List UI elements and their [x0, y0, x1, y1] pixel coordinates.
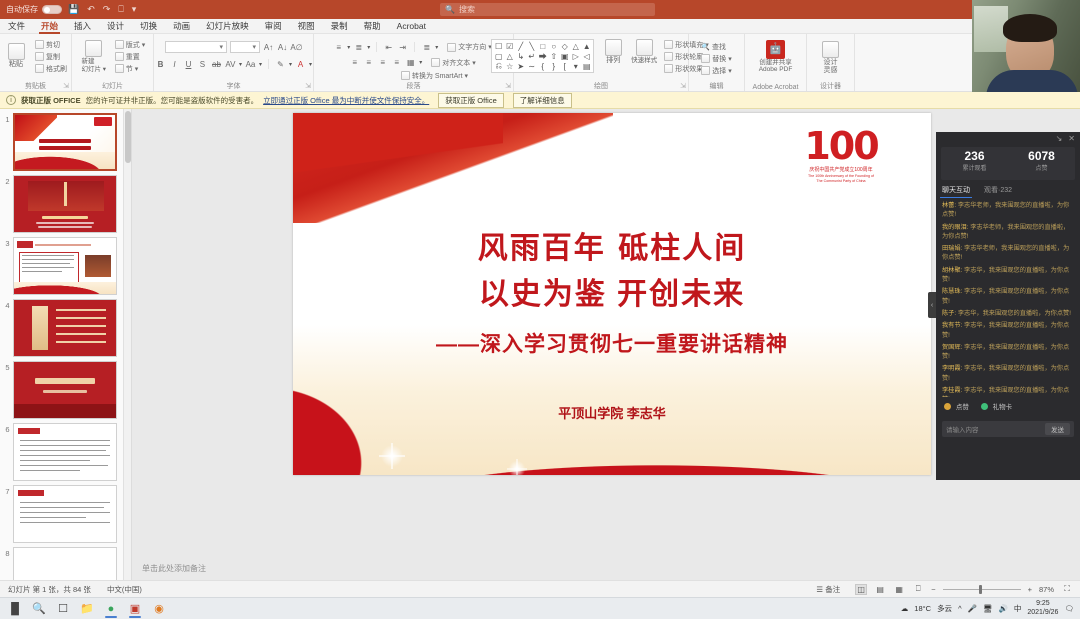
- tab-transitions[interactable]: 切换: [132, 19, 165, 34]
- views-value: 236: [941, 150, 1008, 163]
- cut-button[interactable]: 剪切: [33, 39, 69, 50]
- tab-review[interactable]: 审阅: [257, 19, 290, 34]
- fit-slide-button[interactable]: ⛶: [1061, 584, 1073, 595]
- chat-message: 陈子: 李志华，我来围观您的直播啦，为你点赞!: [942, 309, 1074, 318]
- status-bar-right: ☰ 备注 ◫ ▤ ▦ ⎕ − + 87% ⛶: [808, 584, 1080, 595]
- group-label-acrobat: Adobe Acrobat: [745, 84, 806, 91]
- line-spacing-button[interactable]: ≣: [421, 42, 432, 53]
- font-color-button[interactable]: A: [295, 59, 306, 70]
- tab-viewers[interactable]: 观看·232: [984, 185, 1012, 195]
- sparkle-icon: [507, 459, 527, 475]
- thumbnail-slide-4[interactable]: [13, 299, 117, 357]
- thumbnail-number: 1: [2, 113, 13, 124]
- status-bar: 幻灯片 第 1 张，共 84 张 中文(中国) ☰ 备注 ◫ ▤ ▦ ⎕ − +…: [0, 580, 1080, 597]
- chat-message: 林蕾: 李志华老师，我来围观您的直播啦，为你点赞!: [942, 201, 1074, 220]
- volume-icon[interactable]: 🔊: [998, 604, 1007, 613]
- chat-header: ↘ ✕: [936, 132, 1080, 146]
- presenter-body: [986, 70, 1078, 92]
- powerpoint-icon[interactable]: ▣: [124, 599, 146, 618]
- slide-count-label: 幻灯片 第 1 张，共 84 张: [0, 584, 99, 595]
- group-label-editing: 编辑: [689, 81, 744, 91]
- chat-tab-bar: 聊天互动 观看·232: [936, 180, 1080, 195]
- chat-input-placeholder: 请输入内容: [946, 424, 979, 434]
- smartart-icon: [401, 71, 410, 80]
- thumbnail-scrollbar[interactable]: [123, 109, 131, 580]
- tab-home[interactable]: 开始: [33, 19, 66, 34]
- increase-indent-button[interactable]: ⇥: [397, 42, 408, 53]
- mic-icon[interactable]: 🎤: [968, 604, 977, 613]
- chat-message: 田瑞娟: 李志华老师，我来围观您的直播啦，为你点赞!: [942, 244, 1074, 263]
- thumbnail-number: 8: [2, 547, 13, 558]
- strikethrough-button[interactable]: ab: [211, 59, 222, 70]
- paste-label: 粘贴: [9, 61, 23, 69]
- weather-desc: 多云: [937, 603, 952, 614]
- ime-icon[interactable]: 中: [1014, 603, 1022, 614]
- redo-icon[interactable]: ↷: [101, 4, 113, 15]
- weather-icon[interactable]: ☁: [901, 604, 909, 613]
- create-share-pdf-button[interactable]: 🤖 创建并共享 Adobe PDF: [748, 40, 804, 74]
- chat-message: 贺国辉: 李志华，我来围观您的直播啦，为你点赞!: [942, 343, 1074, 362]
- layout-icon: [115, 40, 124, 49]
- replace-icon: [701, 54, 710, 63]
- thumbnail-number: 5: [2, 361, 13, 372]
- align-center-button[interactable]: ≡: [363, 57, 374, 68]
- network-icon[interactable]: 🖥: [983, 604, 993, 613]
- thumbnail-item[interactable]: 3: [0, 233, 131, 295]
- search-placeholder: 搜索: [459, 4, 475, 15]
- slide-thumbnail-pane[interactable]: 1 2 3: [0, 109, 132, 580]
- search-icon: 🔍: [445, 5, 455, 14]
- chat-message: 陈慧珠: 李志华，我来围观您的直播啦，为你点赞!: [942, 287, 1074, 306]
- thumbnail-slide-1[interactable]: [13, 113, 117, 171]
- title-bar: 自动保存 💾 ↶ ↷ ⎕ ▾ 李效武 深入学习贯彻七一重要讲话精神9.3.ppt…: [0, 0, 1080, 19]
- underline-button[interactable]: U: [183, 59, 194, 70]
- paste-button[interactable]: 粘贴: [2, 43, 30, 69]
- start-icon[interactable]: █: [4, 599, 26, 618]
- present-icon[interactable]: ⎕: [116, 4, 125, 15]
- italic-button[interactable]: I: [169, 59, 180, 70]
- banner-message: 您的许可证并非正版。您可能是盗版软件的受害者。: [86, 95, 259, 106]
- replace-button[interactable]: 替换▾: [699, 53, 734, 64]
- slide-heading-line2[interactable]: 以史为鉴 开创未来: [293, 269, 931, 313]
- search-box[interactable]: 🔍 搜索: [440, 3, 655, 16]
- drawing-dialog-launcher[interactable]: ⇲: [680, 82, 686, 90]
- live-chat-panel[interactable]: ‹ ↘ ✕ 236 累计观看 6078 点赞 聊天互动 观看·232 林蕾: 李…: [936, 132, 1080, 480]
- clipboard-dialog-launcher[interactable]: ⇲: [63, 82, 69, 90]
- learn-more-button[interactable]: 了解详细信息: [513, 93, 572, 108]
- chat-message: 我有节: 李志华，我来围观您的直播啦，为你点赞!: [942, 321, 1074, 340]
- paragraph-dialog-launcher[interactable]: ⇲: [505, 82, 511, 90]
- new-slide-icon: [85, 40, 102, 57]
- thumbnail-slide-8[interactable]: [13, 547, 117, 580]
- shape-gallery[interactable]: ☐☑╱╲□○◇△▲ ▢△↳↵⮕⇧▣▷◁ ⎌☆➤∼{}[▾▤: [491, 39, 594, 73]
- align-left-button[interactable]: ≡: [349, 57, 360, 68]
- bold-button[interactable]: B: [155, 59, 166, 70]
- arrange-button[interactable]: 排列: [600, 39, 626, 65]
- chat-action-bar: 点赞 礼物卡: [936, 397, 1080, 415]
- thumbnail-number: 7: [2, 485, 13, 496]
- copy-button[interactable]: 复制: [33, 51, 69, 62]
- thumbnail-scroll-thumb[interactable]: [125, 111, 131, 163]
- autosave-toggle[interactable]: [42, 5, 62, 14]
- font-dialog-launcher[interactable]: ⇲: [305, 82, 311, 90]
- shrink-font-button[interactable]: A↓: [277, 42, 288, 53]
- adobe-pdf-icon: 🤖: [766, 40, 785, 59]
- group-label-designer: 设计器: [807, 81, 854, 91]
- chat-message: 李明霞: 李志华，我来围观您的直播啦，为你点赞!: [942, 364, 1074, 383]
- chat-statistics: 236 累计观看 6078 点赞: [941, 147, 1075, 180]
- text-direction-button[interactable]: 文字方向▾: [445, 42, 494, 53]
- notes-button[interactable]: ☰ 备注: [808, 584, 848, 595]
- chat-message: 胡林聚: 李志华，我来围观您的直播啦，为你点赞!: [942, 266, 1074, 285]
- tab-chat[interactable]: 聊天互动: [942, 185, 970, 195]
- font-name-combo[interactable]: ▾: [165, 41, 227, 53]
- slide-heading-line1[interactable]: 风雨百年 砥柱人间: [293, 223, 931, 267]
- thumbnail-item[interactable]: 7: [0, 481, 131, 543]
- desktop-root: 自动保存 💾 ↶ ↷ ⎕ ▾ 李效武 深入学习贯彻七一重要讲话精神9.3.ppt…: [0, 0, 1080, 619]
- chat-message-list[interactable]: 林蕾: 李志华老师，我来围观您的直播啦，为你点赞! 我的眼泪: 李志华老师，我来…: [936, 201, 1080, 397]
- stat-views: 236 累计观看: [941, 147, 1008, 180]
- tab-design[interactable]: 设计: [99, 19, 132, 34]
- webcam-video-feed[interactable]: [972, 0, 1080, 92]
- quick-access-toolbar: 自动保存 💾 ↶ ↷ ⎕ ▾: [0, 4, 138, 15]
- smartart-button[interactable]: 转换为 SmartArt▾: [399, 70, 470, 81]
- bullets-button[interactable]: ≡: [333, 42, 344, 53]
- group-label-font: 字体: [154, 81, 313, 91]
- decrease-indent-button[interactable]: ⇤: [383, 42, 394, 53]
- effects-icon: [664, 64, 673, 73]
- thumbnail-slide-6[interactable]: [13, 423, 117, 481]
- ribbon-group-paragraph: ≡▾ ≣▾ ⇤ ⇥ ≣▾ 文字方向▾ ≡ ≡ ≡ ≡ ▦▾: [314, 34, 514, 91]
- group-label-paragraph: 段落: [314, 81, 513, 91]
- clock-time: 9:25: [1036, 600, 1050, 607]
- autosave-label: 自动保存: [6, 4, 38, 15]
- reset-icon: [115, 52, 124, 61]
- more-icon[interactable]: ▾: [130, 4, 139, 15]
- tab-insert[interactable]: 插入: [66, 19, 99, 34]
- design-ideas-icon: [822, 41, 839, 58]
- thumbnail-item[interactable]: 8: [0, 543, 131, 580]
- tab-help[interactable]: 帮助: [356, 19, 389, 34]
- tab-animations[interactable]: 动画: [165, 19, 198, 34]
- clear-formatting-button[interactable]: A∅: [291, 42, 302, 53]
- thumbnail-item[interactable]: 1: [0, 109, 131, 171]
- gift-card-button[interactable]: 礼物卡: [981, 401, 1012, 411]
- thumbnail-number: 2: [2, 175, 13, 186]
- quick-styles-button[interactable]: 快速样式: [631, 39, 657, 64]
- quick-styles-icon: [636, 39, 653, 56]
- outline-icon: [664, 52, 673, 61]
- weather-temp: 18°C: [914, 604, 931, 613]
- language-label[interactable]: 中文(中国): [99, 584, 150, 595]
- ribbon-group-font: ▾ ▾ A↑ A↓ A∅ B I U S ab AV▾ Aa▾ ✎▾ A▾: [154, 34, 314, 91]
- normal-view-button[interactable]: ◫: [855, 584, 867, 595]
- grow-font-button[interactable]: A↑: [263, 42, 274, 53]
- thumbnail-item[interactable]: 5: [0, 357, 131, 419]
- chat-close-icon[interactable]: ✕: [1068, 134, 1075, 146]
- thumbnail-item[interactable]: 4: [0, 295, 131, 357]
- undo-icon[interactable]: ↶: [85, 4, 97, 15]
- zoom-slider[interactable]: [943, 589, 1021, 590]
- wave-art: [15, 152, 115, 169]
- reading-view-button[interactable]: ▦: [893, 584, 905, 595]
- group-label-clipboard: 剪贴板: [0, 81, 71, 91]
- ribbon: 粘贴 剪切 复制 格式刷 剪贴板: [0, 34, 1080, 92]
- slide-author[interactable]: 平顶山学院 李志华: [293, 403, 931, 422]
- activation-banner: i 获取正版 OFFICE 您的许可证并非正版。您可能是盗版软件的受害者。 立即…: [0, 92, 1080, 109]
- columns-button[interactable]: ▦: [405, 57, 416, 68]
- arrange-icon: [605, 39, 622, 56]
- presenter-hair: [1003, 14, 1057, 42]
- zoom-out-button[interactable]: −: [931, 585, 935, 594]
- justify-button[interactable]: ≡: [391, 57, 402, 68]
- anniversary-logo: 100 庆祝中国共产党成立100周年 The 100th Anniversary…: [793, 127, 889, 184]
- section-button[interactable]: 节▾: [113, 63, 148, 74]
- logo-number: 100: [793, 127, 889, 165]
- thumbnail-slide-5[interactable]: [13, 361, 117, 419]
- system-tray: ☁ 18°C 多云 ^ 🎤 🖥 🔊 中 9:25 2021/9/26 🗨: [901, 600, 1080, 616]
- paste-icon: [8, 43, 25, 60]
- tab-record[interactable]: 录制: [323, 19, 356, 34]
- magnifier-icon: 🔍: [701, 43, 710, 51]
- chat-message: 李桂霞: 李志华，我来围观您的直播啦，为你点赞!: [942, 386, 1074, 397]
- windows-taskbar: █ 🔍 ☐ 📁 ● ▣ ◉ ☁ 18°C 多云 ^ 🎤 🖥 🔊 中 9:25 2…: [0, 597, 1080, 619]
- search-icon[interactable]: 🔍: [28, 599, 50, 618]
- ribbon-group-slides: 新建幻灯片 ▾ 版式▾ 重置 节▾ 幻: [72, 34, 154, 91]
- chat-input-row[interactable]: 请输入内容 发送: [942, 421, 1074, 437]
- ribbon-group-acrobat: 🤖 创建并共享 Adobe PDF Adobe Acrobat: [745, 34, 807, 91]
- ribbon-group-editing: 🔍 查找 替换▾ 选择▾ 编辑: [689, 34, 745, 91]
- ribbon-tab-bar: 文件 开始 插入 设计 切换 动画 幻灯片放映 审阅 视图 录制 帮助 Acro…: [0, 19, 1080, 34]
- current-slide[interactable]: ★ ★ ★ ★ ★ 100 庆祝中国共产党成立100周年 The 100th A…: [293, 113, 931, 475]
- zoom-in-button[interactable]: +: [1028, 585, 1032, 594]
- info-icon: i: [6, 95, 16, 105]
- thumbnail-number: 3: [2, 237, 13, 248]
- zoom-level-label[interactable]: 87%: [1039, 585, 1054, 594]
- slide-sorter-button[interactable]: ▤: [874, 584, 886, 595]
- ribbon-group-clipboard: 粘贴 剪切 复制 格式刷 剪贴板: [0, 34, 72, 91]
- thumbnail-number: 6: [2, 423, 13, 434]
- select-button[interactable]: 选择▾: [699, 65, 734, 76]
- clock[interactable]: 9:25 2021/9/26: [1027, 600, 1058, 616]
- reset-button[interactable]: 重置: [113, 51, 148, 62]
- thumbnail-slide-7[interactable]: [13, 485, 117, 543]
- text-highlight-button[interactable]: ✎: [275, 59, 286, 70]
- chat-minimize-icon[interactable]: ↘: [1056, 134, 1063, 146]
- text-direction-icon: [447, 43, 456, 52]
- group-label-slides: 幻灯片: [72, 81, 153, 91]
- group-label-drawing: 绘图: [514, 81, 688, 91]
- tab-acrobat[interactable]: Acrobat: [389, 19, 434, 34]
- find-button[interactable]: 🔍 查找: [699, 41, 734, 52]
- thumbnail-slide-2[interactable]: [13, 175, 117, 233]
- ribbon-group-designer: 设计 灵感 设计器: [807, 34, 855, 91]
- flag-art: [15, 115, 57, 141]
- clock-date: 2021/9/26: [1027, 609, 1058, 616]
- character-spacing-button[interactable]: AV: [225, 59, 236, 70]
- send-button[interactable]: 发送: [1045, 423, 1070, 435]
- scissors-icon: [35, 40, 44, 49]
- chevron-up-icon[interactable]: ^: [958, 604, 962, 613]
- chat-message: 我的眼泪: 李志华老师，我来围观您的直播啦，为你点赞!: [942, 223, 1074, 242]
- tab-slideshow[interactable]: 幻灯片放映: [198, 19, 257, 34]
- anniversary-logo: [94, 117, 112, 126]
- thumbnail-item[interactable]: 6: [0, 419, 131, 481]
- thumbnail-number: 4: [2, 299, 13, 310]
- likes-label: 点赞: [1008, 163, 1075, 172]
- slide-subtitle[interactable]: ——深入学习贯彻七一重要讲话精神: [293, 328, 931, 358]
- banner-title: 获取正版 OFFICE: [21, 95, 81, 106]
- text-shadow-button[interactable]: S: [197, 59, 208, 70]
- collapse-chat-button[interactable]: ‹: [928, 292, 936, 318]
- format-painter-button[interactable]: 格式刷: [33, 63, 69, 74]
- logo-english-text: The 100th Anniversary of the Founding of…: [793, 174, 889, 184]
- get-genuine-office-button[interactable]: 获取正版 Office: [438, 93, 504, 108]
- align-text-button[interactable]: 对齐文本▾: [429, 57, 478, 68]
- flag-decoration: ★ ★ ★ ★ ★: [293, 113, 613, 223]
- stat-likes: 6078 点赞: [1008, 147, 1075, 180]
- design-ideas-button[interactable]: 设计 灵感: [811, 41, 851, 75]
- tab-view[interactable]: 视图: [290, 19, 323, 34]
- fill-icon: [664, 40, 673, 49]
- copy-icon: [35, 52, 44, 61]
- thumbnail-slide-3[interactable]: [13, 237, 117, 295]
- notification-icon[interactable]: 🗨: [1064, 604, 1074, 613]
- font-size-combo[interactable]: ▾: [230, 41, 260, 53]
- taskview-icon[interactable]: ☐: [52, 599, 74, 618]
- banner-link[interactable]: 立即通过正版 Office 最为中断并使文件保持安全。: [263, 95, 429, 106]
- ribbon-group-drawing: ☐☑╱╲□○◇△▲ ▢△↳↵⮕⇧▣▷◁ ⎌☆➤∼{}[▾▤ 排列 快速样式: [514, 34, 689, 91]
- like-icon: [944, 403, 951, 410]
- chrome-icon[interactable]: ●: [100, 599, 122, 618]
- gift-icon: [981, 403, 988, 410]
- app-icon[interactable]: ◉: [148, 599, 170, 618]
- save-icon[interactable]: 💾: [66, 4, 81, 15]
- thumbnail-item[interactable]: 2: [0, 171, 131, 233]
- like-button[interactable]: 点赞: [944, 401, 969, 411]
- tab-file[interactable]: 文件: [0, 19, 33, 34]
- slideshow-button[interactable]: ⎕: [912, 584, 924, 595]
- numbering-button[interactable]: ≣: [353, 42, 364, 53]
- views-label: 累计观看: [941, 163, 1008, 172]
- change-case-button[interactable]: Aa: [245, 59, 256, 70]
- align-right-button[interactable]: ≡: [377, 57, 388, 68]
- align-text-icon: [431, 58, 440, 67]
- notes-placeholder[interactable]: 单击此处添加备注: [142, 563, 206, 574]
- brush-icon: [35, 64, 44, 73]
- new-slide-button[interactable]: 新建幻灯片 ▾: [78, 40, 110, 73]
- layout-button[interactable]: 版式▾: [113, 39, 148, 50]
- sparkle-icon: [379, 443, 405, 469]
- section-icon: [115, 64, 124, 73]
- likes-value: 6078: [1008, 150, 1075, 163]
- select-icon: [701, 66, 710, 75]
- folder-icon[interactable]: 📁: [76, 599, 98, 618]
- zoom-slider-knob[interactable]: [979, 585, 982, 594]
